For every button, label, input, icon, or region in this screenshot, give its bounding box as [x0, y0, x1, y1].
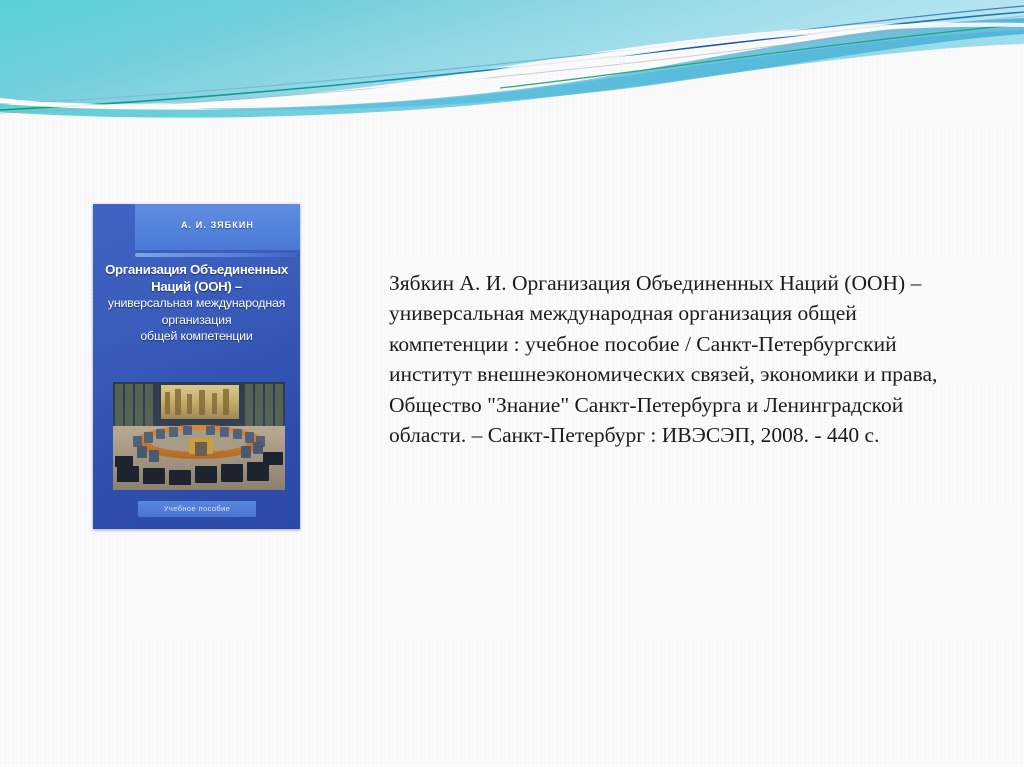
bibliographic-citation: Зябкин А. И. Организация Объединенных На…: [389, 268, 969, 451]
wave-line-grey: [0, 16, 1024, 113]
swoosh-wave-banner: [0, 0, 1024, 120]
cover-title-block: Организация Объединенных Наций (ООН) – у…: [99, 262, 294, 345]
wave-line-green-blue: [0, 12, 1024, 110]
wave-line-light-blue: [0, 6, 1024, 104]
wave-line-green: [500, 24, 1024, 88]
cover-series-badge: Учебное пособие: [138, 501, 256, 517]
wave-gap-white: [0, 23, 1024, 110]
wave-shape-secondary: [0, 30, 1024, 118]
book-cover-image: А. И. ЗЯБКИН Организация Объединенных На…: [93, 204, 300, 529]
cover-author-name: А. И. ЗЯБКИН: [135, 220, 300, 230]
cover-subtitle-line-2: организация: [99, 312, 294, 329]
cover-subtitle-line-3: общей компетенции: [99, 328, 294, 345]
un-security-council-photo: [113, 382, 285, 490]
wave-shape-main: [0, 0, 1024, 104]
wave-shape-blue-band: [190, 18, 1024, 110]
cover-title-line-1: Организация Объединенных: [99, 262, 294, 279]
cover-divider-rule: [135, 253, 297, 257]
cover-subtitle-line-1: универсальная международная: [99, 295, 294, 312]
slide-canvas: А. И. ЗЯБКИН Организация Объединенных На…: [0, 0, 1024, 767]
cover-title-line-2: Наций (ООН) –: [99, 279, 294, 296]
